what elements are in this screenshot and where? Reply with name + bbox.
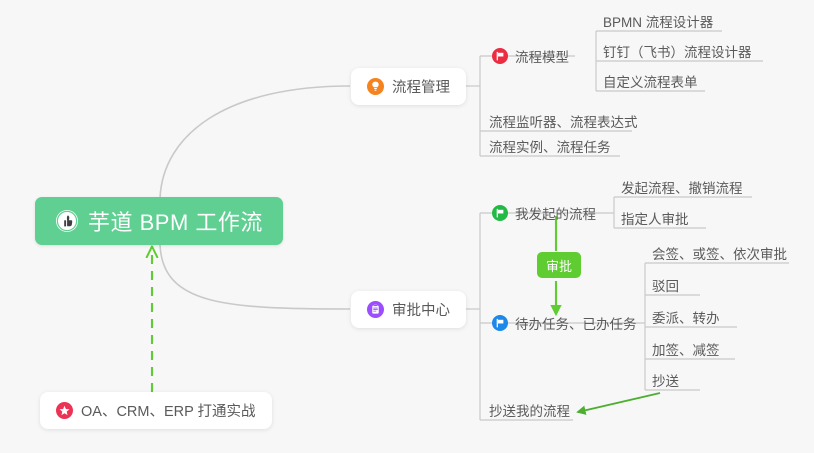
sub-node-my-started-process[interactable]: 我发起的流程: [492, 201, 596, 225]
leaf-label-cc: 抄送: [652, 370, 679, 390]
leaf-node-process-listener[interactable]: 流程监听器、流程表达式: [489, 110, 638, 132]
mindmap-canvas: 芋道 BPM 工作流 流程管理 流程模型 BPMN 流程设计器 钉钉（飞书: [0, 0, 814, 453]
leaf-node-add-remove-sign[interactable]: 加签、减签: [652, 338, 720, 360]
leaf-node-cc-to-me[interactable]: 抄送我的流程: [489, 399, 570, 421]
sub-node-process-model[interactable]: 流程模型: [492, 44, 569, 68]
leaf-label-bpmn-designer: BPMN 流程设计器: [603, 11, 713, 31]
leaf-label-countersign: 会签、或签、依次审批: [652, 243, 787, 263]
star-icon: [56, 402, 73, 419]
leaf-node-reject[interactable]: 驳回: [652, 274, 679, 296]
approval-badge[interactable]: 审批: [537, 252, 581, 278]
integration-note-label: OA、CRM、ERP 打通实战: [81, 400, 256, 421]
branch-node-approval-center[interactable]: 审批中心: [351, 291, 466, 328]
leaf-node-process-instance[interactable]: 流程实例、流程任务: [489, 135, 611, 157]
leaf-label-process-listener: 流程监听器、流程表达式: [489, 111, 638, 131]
root-node[interactable]: 芋道 BPM 工作流: [35, 197, 283, 245]
leaf-node-countersign[interactable]: 会签、或签、依次审批: [652, 242, 787, 264]
leaf-label-process-instance: 流程实例、流程任务: [489, 136, 611, 156]
leaf-label-dingtalk-designer: 钉钉（飞书）流程设计器: [603, 41, 752, 61]
integration-note-node[interactable]: OA、CRM、ERP 打通实战: [40, 392, 272, 429]
flag-icon: [492, 205, 508, 221]
leaf-node-delegate-transfer[interactable]: 委派、转办: [652, 306, 720, 328]
leaf-label-cc-to-me: 抄送我的流程: [489, 400, 570, 420]
leaf-label-custom-form: 自定义流程表单: [603, 71, 698, 91]
leaf-node-custom-form[interactable]: 自定义流程表单: [603, 70, 698, 92]
sub-node-todo-done-tasks[interactable]: 待办任务、已办任务: [492, 311, 637, 335]
leaf-label-launch-cancel: 发起流程、撤销流程: [621, 177, 743, 197]
leaf-node-bpmn-designer[interactable]: BPMN 流程设计器: [603, 10, 713, 32]
arrow-cc-to-ccme: [578, 393, 660, 412]
link-root-to-process-management: [160, 86, 350, 198]
branch-label-process-management: 流程管理: [392, 76, 450, 97]
sub-label-process-model: 流程模型: [515, 46, 569, 66]
sub-label-todo-done-tasks: 待办任务、已办任务: [515, 313, 637, 333]
clipboard-icon: [367, 301, 384, 318]
branch-node-process-management[interactable]: 流程管理: [351, 68, 466, 105]
branch-label-approval-center: 审批中心: [392, 299, 450, 320]
root-label: 芋道 BPM 工作流: [88, 205, 263, 237]
link-root-to-approval-center: [160, 245, 350, 309]
leaf-label-reject: 驳回: [652, 275, 679, 295]
leaf-label-assignee-approval: 指定人审批: [621, 208, 689, 228]
leaf-label-delegate-transfer: 委派、转办: [652, 307, 720, 327]
flag-icon: [492, 48, 508, 64]
thumbs-up-icon: [55, 209, 79, 233]
leaf-node-launch-cancel[interactable]: 发起流程、撤销流程: [621, 176, 743, 198]
leaf-label-add-remove-sign: 加签、减签: [652, 339, 720, 359]
sub-label-my-started-process: 我发起的流程: [515, 203, 596, 223]
lightbulb-icon: [367, 78, 384, 95]
flag-icon: [492, 315, 508, 331]
leaf-node-cc[interactable]: 抄送: [652, 369, 679, 391]
leaf-node-dingtalk-designer[interactable]: 钉钉（飞书）流程设计器: [603, 40, 752, 62]
approval-badge-label: 审批: [546, 256, 572, 275]
leaf-node-assignee-approval[interactable]: 指定人审批: [621, 207, 689, 229]
